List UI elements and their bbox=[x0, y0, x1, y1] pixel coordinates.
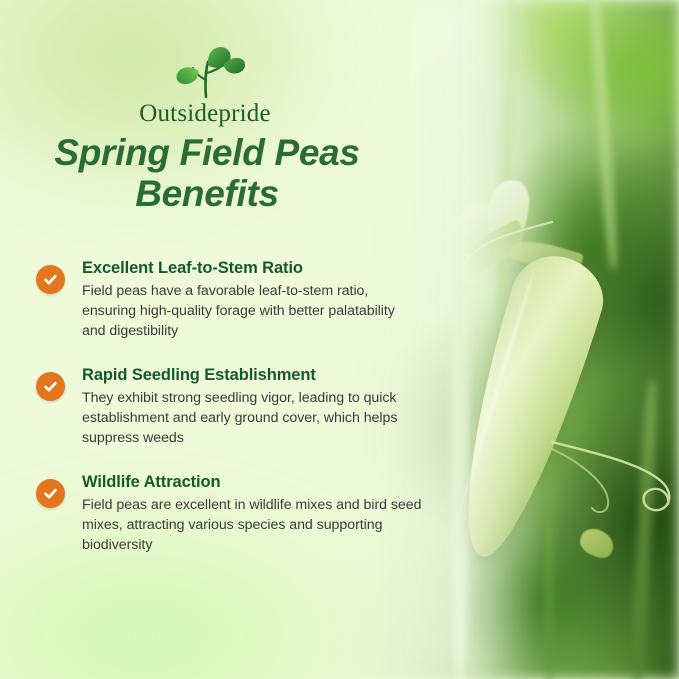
brand-logo: Outsidepride bbox=[0, 46, 410, 127]
title-line-1: Spring Field Peas bbox=[0, 132, 414, 173]
check-circle-icon bbox=[36, 372, 65, 401]
benefit-description: Field peas have a favorable leaf-to-stem… bbox=[82, 281, 422, 341]
infographic-poster: Outsidepride Spring Field Peas Benefits … bbox=[0, 0, 679, 679]
benefit-title: Rapid Seedling Establishment bbox=[82, 365, 426, 386]
benefit-item: Excellent Leaf-to-Stem Ratio Field peas … bbox=[36, 258, 426, 341]
benefit-title: Excellent Leaf-to-Stem Ratio bbox=[82, 258, 426, 279]
benefit-title: Wildlife Attraction bbox=[82, 472, 426, 493]
benefit-item: Wildlife Attraction Field peas are excel… bbox=[36, 472, 426, 555]
benefits-list: Excellent Leaf-to-Stem Ratio Field peas … bbox=[36, 258, 426, 555]
benefit-item: Rapid Seedling Establishment They exhibi… bbox=[36, 365, 426, 448]
check-circle-icon bbox=[36, 479, 65, 508]
benefit-description: They exhibit strong seedling vigor, lead… bbox=[82, 388, 422, 448]
benefit-description: Field peas are excellent in wildlife mix… bbox=[82, 495, 422, 555]
title-line-2: Benefits bbox=[0, 173, 414, 214]
brand-name: Outsidepride bbox=[0, 101, 410, 127]
page-title: Spring Field Peas Benefits bbox=[0, 132, 414, 215]
check-circle-icon bbox=[36, 265, 65, 294]
poster-content: Outsidepride Spring Field Peas Benefits … bbox=[0, 0, 679, 679]
plant-sprout-icon bbox=[0, 46, 410, 103]
